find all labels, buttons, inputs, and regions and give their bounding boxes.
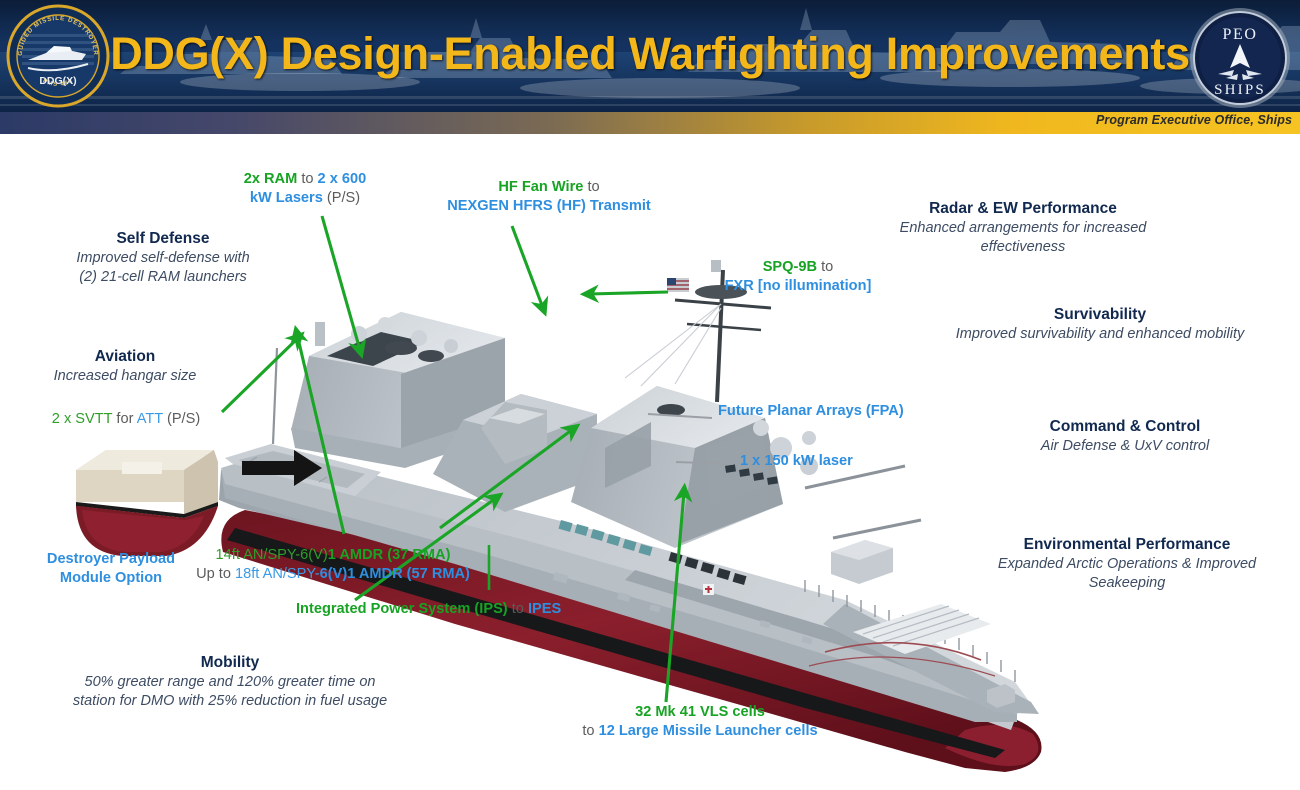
vls-label-c: 12 Large Missile Launcher cells: [599, 723, 818, 739]
survivability-title: Survivability: [910, 306, 1290, 325]
callout-vls: 32 Mk 41 VLS cells to 12 Large Missile L…: [520, 703, 880, 741]
callout-fpa: Future Planar Arrays (FPA): [718, 402, 958, 421]
command-control-title: Command & Control: [960, 418, 1290, 437]
self-defense-title: Self Defense: [28, 230, 298, 249]
dpm-label-line1: Destroyer Payload: [47, 551, 175, 567]
ram-label-to: to: [297, 171, 317, 187]
environmental-title: Environmental Performance: [962, 536, 1292, 555]
mobility-body: 50% greater range and 120% greater time …: [20, 673, 440, 711]
callout-aviation: Aviation Increased hangar size: [20, 348, 230, 386]
callout-environmental: Environmental Performance Expanded Arcti…: [962, 536, 1292, 593]
callout-radar-ew: Radar & EW Performance Enhanced arrangem…: [858, 200, 1188, 257]
dpm-label-line2: Module Option: [60, 570, 162, 586]
callout-self-defense: Self Defense Improved self-defense with …: [28, 230, 298, 287]
aviation-title: Aviation: [20, 348, 230, 367]
peo-ships-seal: PEO SHIPS: [1188, 6, 1292, 110]
mobility-title: Mobility: [20, 654, 440, 673]
aviation-body: Increased hangar size: [20, 367, 230, 386]
hf-label-a: HF Fan Wire: [498, 179, 583, 195]
org-label: Program Executive Office, Ships: [1096, 113, 1292, 127]
svtt-label-d: (P/S): [163, 411, 200, 427]
ram-label-c: 2 x 600: [318, 171, 367, 187]
transition-arrow-icon: [240, 447, 324, 489]
vls-label-b: to: [582, 723, 598, 739]
slide-header: GUIDED MISSILE DESTROYER PMS 460 DDG(X) …: [0, 0, 1300, 112]
laser150-label: 1 x 150 kW laser: [740, 453, 853, 469]
ddgx-seal: GUIDED MISSILE DESTROYER PMS 460 DDG(X): [6, 4, 110, 108]
callout-svtt: 2 x SVTT for ATT (P/S): [26, 410, 226, 429]
ram-label-e: (P/S): [323, 190, 360, 206]
spq-label-b: FXR [no illumination]: [725, 278, 872, 294]
radar-ew-title: Radar & EW Performance: [858, 200, 1188, 219]
amdr-label-b: 1 AMDR (37 RMA): [328, 547, 451, 563]
spq-label-to: to: [817, 259, 833, 275]
slide-canvas: GUIDED MISSILE DESTROYER PMS 460 DDG(X) …: [0, 0, 1300, 790]
vls-label-a: 32 Mk 41 VLS cells: [635, 704, 765, 720]
svtt-label-a: 2 x SVTT: [52, 411, 113, 427]
callout-survivability: Survivability Improved survivability and…: [910, 306, 1290, 344]
peo-seal-bottom-text: SHIPS: [1214, 82, 1266, 98]
callout-hf-fan-wire: HF Fan Wire to NEXGEN HFRS (HF) Transmit: [418, 178, 680, 216]
ddgx-seal-center: DDG(X): [39, 75, 76, 87]
peo-seal-top-text: PEO: [1222, 26, 1257, 43]
svtt-label-c: ATT: [137, 411, 163, 427]
ips-label-b: to: [508, 601, 528, 617]
hf-label-to: to: [583, 179, 599, 195]
callout-150kw-laser: 1 x 150 kW laser: [740, 452, 960, 471]
ips-label-a: Integrated Power System (IPS): [296, 601, 508, 617]
callout-command-control: Command & Control Air Defense & UxV cont…: [960, 418, 1290, 456]
amdr-label-c: Up to: [196, 566, 235, 582]
page-title: DDG(X) Design-Enabled Warfighting Improv…: [130, 14, 1170, 94]
ram-label-a: 2x RAM: [244, 171, 298, 187]
command-control-body: Air Defense & UxV control: [960, 437, 1290, 456]
amdr-label-a: 14ft AN/SPY-6(V): [216, 547, 328, 563]
callout-spq9b: SPQ-9B to FXR [no illumination]: [648, 258, 948, 296]
ips-label-c: IPES: [528, 601, 561, 617]
hf-label-b: NEXGEN HFRS (HF) Transmit: [447, 198, 651, 214]
svtt-label-b: for: [112, 411, 136, 427]
destroyer-payload-module-section: [58, 440, 228, 562]
amdr-label-d: 18ft AN/SPY-: [235, 566, 320, 582]
radar-ew-body: Enhanced arrangements for increased effe…: [858, 219, 1188, 257]
callout-mobility: Mobility 50% greater range and 120% grea…: [20, 654, 440, 711]
environmental-body: Expanded Arctic Operations & Improved Se…: [962, 555, 1292, 593]
self-defense-body: Improved self-defense with (2) 21-cell R…: [28, 249, 298, 287]
callout-ram-lasers: 2x RAM to 2 x 600 kW Lasers (P/S): [180, 170, 430, 208]
spq-label-a: SPQ-9B: [763, 259, 817, 275]
ram-label-d: kW Lasers: [250, 190, 323, 206]
fpa-label: Future Planar Arrays (FPA): [718, 403, 904, 419]
survivability-body: Improved survivability and enhanced mobi…: [910, 325, 1290, 344]
amdr-label-e: 6(V)1 AMDR (57 RMA): [320, 566, 470, 582]
callout-ips: Integrated Power System (IPS) to IPES: [296, 600, 596, 619]
callout-amdr: 14ft AN/SPY-6(V)1 AMDR (37 RMA) Up to 18…: [168, 546, 498, 584]
